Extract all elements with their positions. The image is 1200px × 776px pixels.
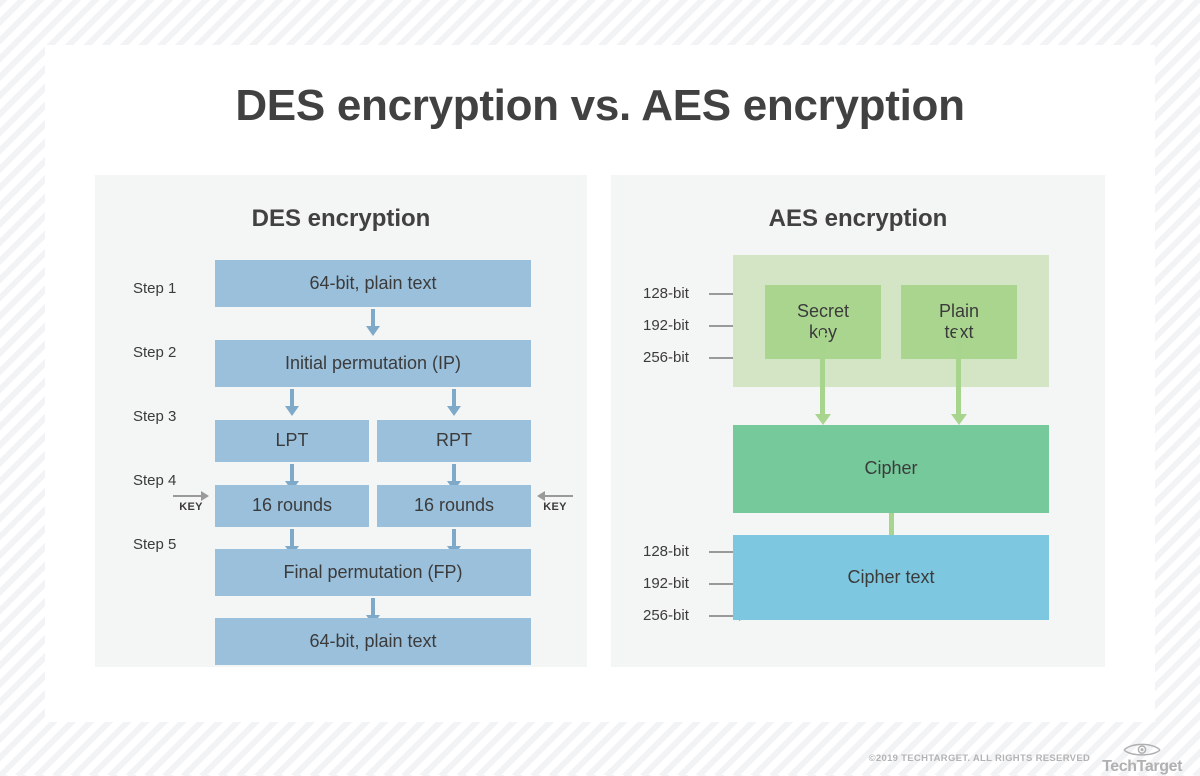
- aes-input-bit-2: 192-bit: [643, 317, 705, 334]
- aes-input-bit-1: 128-bit: [643, 285, 705, 302]
- des-arrow-3-left: [290, 464, 294, 482]
- eye-icon: [1122, 741, 1162, 757]
- aes-panel-title: AES encryption: [611, 205, 1105, 233]
- des-arrow-4-right: [452, 529, 456, 547]
- key-arrow-left-icon: [535, 491, 575, 501]
- aes-box-cipher-text: Cipher text: [733, 535, 1049, 620]
- des-key-right: KEY: [535, 491, 575, 513]
- des-step-3-label: Step 3: [133, 408, 176, 425]
- key-arrow-right-icon: [171, 491, 211, 501]
- aes-input-bit-3: 256-bit: [643, 349, 705, 366]
- footer: ©2019 TECHTARGET. ALL RIGHTS RESERVED Te…: [0, 742, 1200, 775]
- des-arrow-2-left: [290, 389, 294, 407]
- des-box-plaintext-output: 64-bit, plain text: [215, 618, 531, 665]
- aes-box-cipher: Cipher: [733, 425, 1049, 513]
- des-step-4-label: Step 4: [133, 472, 176, 489]
- des-box-plaintext-input: 64-bit, plain text: [215, 260, 531, 307]
- techtarget-wordmark: TechTarget: [1102, 758, 1182, 776]
- des-box-lpt: LPT: [215, 420, 369, 462]
- aes-output-bit-3: 256-bit: [643, 607, 705, 624]
- aes-arrow-secretkey-to-cipher: [820, 330, 825, 415]
- des-key-right-label: KEY: [535, 501, 575, 513]
- aes-arrow-plaintext-to-cipher: [956, 330, 961, 415]
- des-key-left: KEY: [171, 491, 211, 513]
- des-box-rounds-right: 16 rounds: [377, 485, 531, 527]
- des-step-5-label: Step 5: [133, 536, 176, 553]
- des-arrow-3-right: [452, 464, 456, 482]
- des-step-2-label: Step 2: [133, 344, 176, 361]
- des-key-left-label: KEY: [171, 501, 211, 513]
- aes-secret-key-line1: Secret: [797, 301, 849, 322]
- des-box-rpt: RPT: [377, 420, 531, 462]
- des-arrow-2-right: [452, 389, 456, 407]
- des-arrow-4-left: [290, 529, 294, 547]
- des-step-1-label: Step 1: [133, 280, 176, 297]
- des-box-rounds-left: 16 rounds: [215, 485, 369, 527]
- des-arrow-1: [371, 309, 375, 327]
- techtarget-logo: TechTarget: [1102, 741, 1182, 776]
- des-box-initial-permutation: Initial permutation (IP): [215, 340, 531, 387]
- des-panel: DES encryption Step 1 Step 2 Step 3 Step…: [95, 175, 587, 667]
- content-card: DES encryption vs. AES encryption DES en…: [45, 45, 1155, 722]
- des-box-final-permutation: Final permutation (FP): [215, 549, 531, 596]
- aes-output-bit-2: 192-bit: [643, 575, 705, 592]
- aes-plain-text-line1: Plain: [939, 301, 979, 322]
- copyright-text: ©2019 TECHTARGET. ALL RIGHTS RESERVED: [869, 753, 1091, 764]
- des-panel-title: DES encryption: [95, 205, 587, 233]
- des-arrow-5: [371, 598, 375, 616]
- page-title: DES encryption vs. AES encryption: [45, 81, 1155, 131]
- aes-panel: AES encryption 128-bit 192-bit 256-bit S…: [611, 175, 1105, 667]
- aes-output-bit-1: 128-bit: [643, 543, 705, 560]
